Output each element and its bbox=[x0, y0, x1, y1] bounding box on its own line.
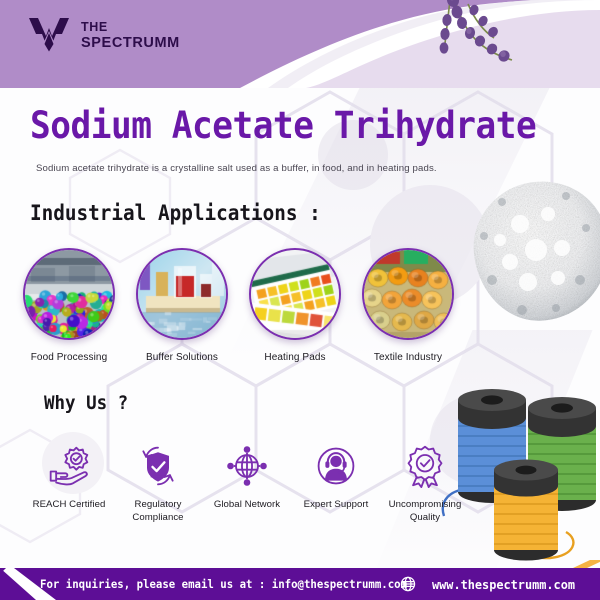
feature-item[interactable]: REACH Certified bbox=[30, 444, 108, 524]
globe-network-arrows-icon bbox=[225, 444, 269, 488]
headset-support-agent-icon bbox=[314, 444, 358, 488]
application-item[interactable]: Heating Pads bbox=[248, 248, 342, 364]
feature-label: REACH Certified bbox=[33, 499, 106, 512]
hand-holding-certificate-badge-icon bbox=[47, 444, 91, 488]
page-subtitle: Sodium acetate trihydrate is a crystalli… bbox=[36, 163, 437, 174]
why-us-list: REACH Certified Regulatory Compliance bbox=[30, 444, 464, 524]
footer-inquiry-text[interactable]: For inquiries, please email us at : info… bbox=[40, 568, 407, 600]
page-title: Sodium Acetate Trihydrate bbox=[30, 104, 536, 147]
lavender-sprig-icon bbox=[424, 0, 544, 74]
applications-list: Food Processing Buffer Solutions Heating… bbox=[22, 248, 455, 364]
feature-label: Expert Support bbox=[304, 499, 369, 512]
feature-label: Regulatory Compliance bbox=[119, 499, 197, 524]
footer-website-link[interactable]: www.thespectrumm.com bbox=[432, 568, 575, 600]
quality-ribbon-rosette-check-icon bbox=[403, 444, 447, 488]
brand-name-line2: SPECTRUMM bbox=[81, 35, 180, 53]
shield-check-refresh-arrows-icon bbox=[136, 444, 180, 488]
application-label: Textile Industry bbox=[374, 352, 442, 364]
feature-label: Uncompromising Quality bbox=[386, 499, 464, 524]
application-item[interactable]: Food Processing bbox=[22, 248, 116, 364]
application-image-buffer-solutions bbox=[136, 248, 228, 340]
spool-orange bbox=[494, 460, 558, 561]
feature-item[interactable]: Regulatory Compliance bbox=[119, 444, 197, 524]
application-item[interactable]: Textile Industry bbox=[361, 248, 455, 364]
product-powder-image bbox=[462, 162, 600, 342]
application-label: Food Processing bbox=[31, 352, 108, 364]
applications-heading: Industrial Applications : bbox=[30, 201, 321, 225]
poster-canvas: THE SPECTRUMM bbox=[0, 0, 600, 600]
footer-bar: For inquiries, please email us at : info… bbox=[0, 568, 600, 600]
brand-name-line1: THE bbox=[81, 20, 180, 35]
globe-icon bbox=[400, 576, 416, 592]
feature-item[interactable]: Expert Support bbox=[297, 444, 375, 524]
feature-label: Global Network bbox=[214, 499, 280, 512]
application-image-textile-industry bbox=[362, 248, 454, 340]
application-image-heating-pads bbox=[249, 248, 341, 340]
feature-item[interactable]: Uncompromising Quality bbox=[386, 444, 464, 524]
brand-name: THE SPECTRUMM bbox=[81, 20, 180, 53]
why-us-heading: Why Us ? bbox=[44, 392, 128, 414]
spectrumm-w-mark-icon bbox=[26, 14, 72, 58]
application-label: Buffer Solutions bbox=[146, 352, 218, 364]
brand-logo[interactable]: THE SPECTRUMM bbox=[26, 14, 180, 58]
application-label: Heating Pads bbox=[264, 352, 325, 364]
application-image-food-processing bbox=[23, 248, 115, 340]
application-item[interactable]: Buffer Solutions bbox=[135, 248, 229, 364]
feature-item[interactable]: Global Network bbox=[208, 444, 286, 524]
